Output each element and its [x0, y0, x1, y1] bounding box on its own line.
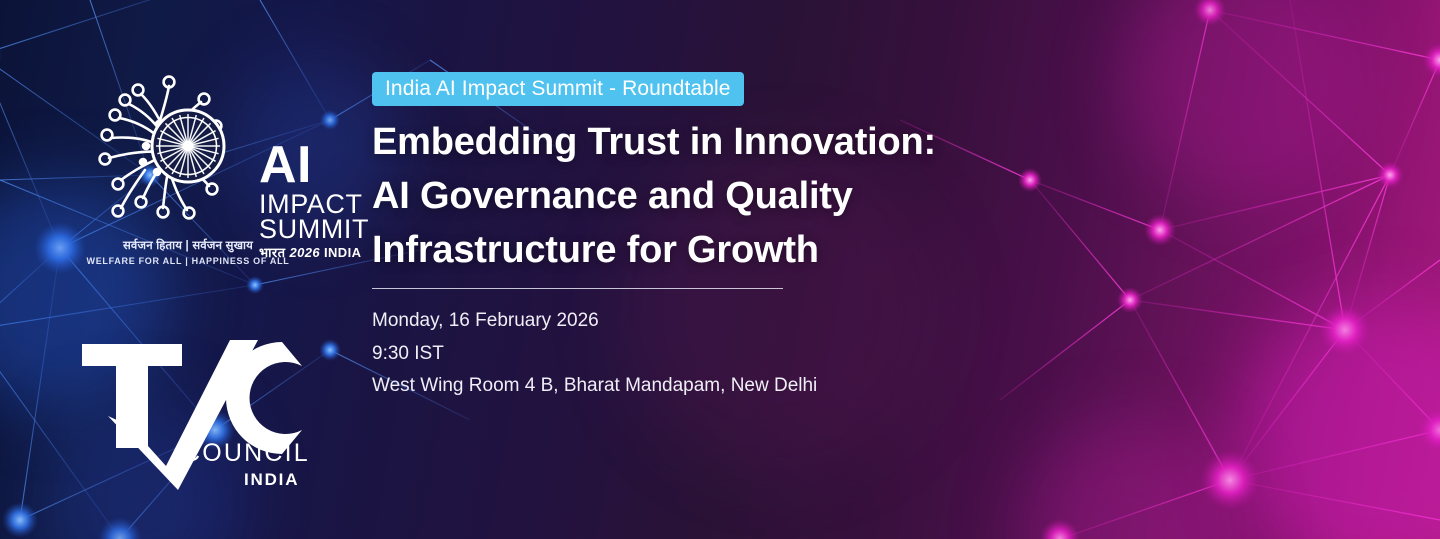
event-venue: West Wing Room 4 B, Bharat Mandapam, New…: [372, 370, 1072, 403]
tagline-english: WELFARE FOR ALL | HAPPINESS OF ALL: [63, 256, 313, 266]
event-title: Embedding Trust in Innovation: AI Govern…: [372, 116, 1072, 278]
tic-council-india-logo: COUNCIL INDIA: [78, 330, 318, 495]
title-divider: [372, 288, 783, 289]
ai-impact-summit-logo: AI IMPACT SUMMIT भारत 2026 INDIA: [63, 58, 313, 233]
event-title-line-2: AI Governance and Quality: [372, 170, 1072, 224]
event-time: 9:30 IST: [372, 338, 1072, 371]
event-category-badge: India AI Impact Summit - Roundtable: [372, 72, 744, 106]
ashoka-chakra-neural-icon: [63, 58, 245, 233]
event-content: India AI Impact Summit - Roundtable Embe…: [372, 0, 1232, 539]
logo-text-india: INDIA: [324, 245, 361, 260]
tic-council-word: COUNCIL: [182, 439, 310, 467]
tic-india-word: INDIA: [244, 470, 299, 489]
event-banner: AI IMPACT SUMMIT भारत 2026 INDIA सर्वजन …: [0, 0, 1440, 539]
event-date: Monday, 16 February 2026: [372, 305, 1072, 338]
summit-tagline: सर्वजन हिताय | सर्वजन सुखाय WELFARE FOR …: [63, 238, 313, 266]
event-title-line-1: Embedding Trust in Innovation:: [372, 116, 1072, 170]
event-details: Monday, 16 February 2026 9:30 IST West W…: [372, 305, 1072, 403]
logo-column: AI IMPACT SUMMIT भारत 2026 INDIA सर्वजन …: [0, 0, 360, 539]
event-title-line-3: Infrastructure for Growth: [372, 224, 1072, 278]
logo-text-ai: AI: [259, 140, 389, 190]
tagline-hindi: सर्वजन हिताय | सर्वजन सुखाय: [63, 238, 313, 253]
